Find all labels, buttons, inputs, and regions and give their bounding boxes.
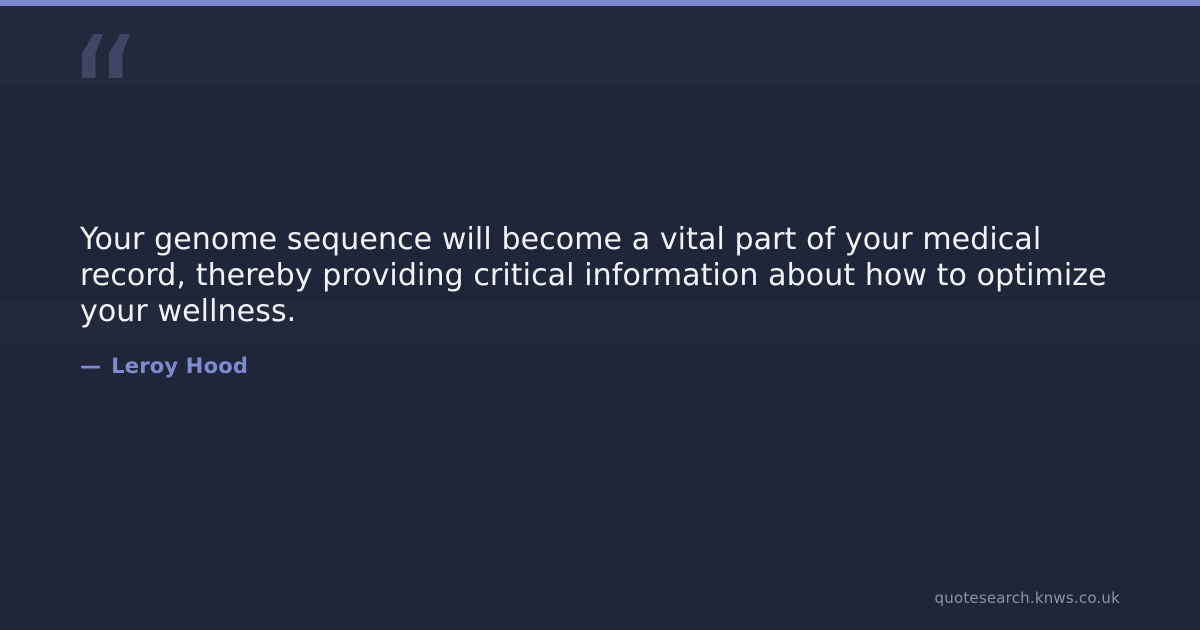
author-name: Leroy Hood	[111, 353, 248, 379]
source-watermark: quotesearch.knws.co.uk	[935, 588, 1120, 608]
attribution-dash: —	[80, 353, 101, 379]
quote-attribution: — Leroy Hood	[80, 353, 1120, 379]
open-quote-icon	[80, 34, 136, 78]
top-accent-bar	[0, 0, 1200, 6]
quote-text: Your genome sequence will become a vital…	[80, 222, 1115, 330]
quote-content: Your genome sequence will become a vital…	[80, 222, 1120, 379]
quote-card: Your genome sequence will become a vital…	[0, 0, 1200, 630]
